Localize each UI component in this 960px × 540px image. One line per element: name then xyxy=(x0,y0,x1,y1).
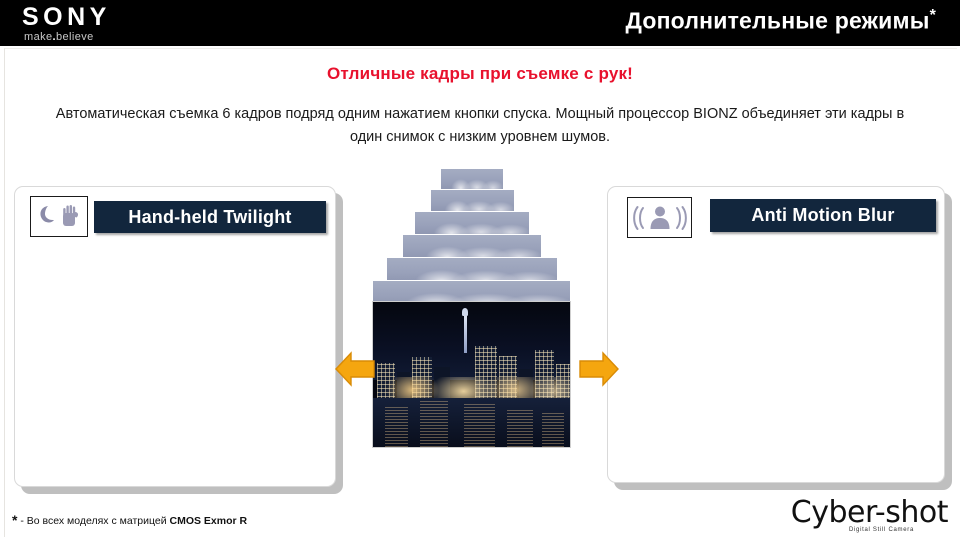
arrow-right-icon xyxy=(578,346,620,392)
cyber-shot-wordmark: Cyber-shot xyxy=(791,498,948,528)
footnote-text: - Во всех моделях с матрицей xyxy=(17,515,169,527)
cyber-shot-sublabel: Digital Still Camera xyxy=(849,527,914,533)
sony-tagline-suffix: believe xyxy=(56,31,94,43)
mode-label-anti-motion-blur: Anti Motion Blur xyxy=(710,199,936,232)
photo-reflection xyxy=(420,401,448,447)
sony-logo: SONY xyxy=(22,5,111,30)
cyber-shot-logo: Cyber-shot Digital Still Camera xyxy=(772,498,948,536)
body-paragraph: Автоматическая съемка 6 кадров подряд од… xyxy=(55,103,905,149)
photo-tower xyxy=(464,315,467,353)
sony-tagline-prefix: make xyxy=(24,31,53,43)
page-title-text: Дополнительные режимы xyxy=(625,8,929,34)
arrow-left-icon xyxy=(334,346,376,392)
moon-hand-icon xyxy=(30,196,88,237)
photo-reflection xyxy=(507,408,533,447)
night-cityscape-image xyxy=(372,301,571,448)
footnote: * - Во всех моделях с матрицей CMOS Exmo… xyxy=(12,512,247,528)
page-title-footnote-mark: * xyxy=(930,7,936,24)
photo-reflection xyxy=(464,404,496,448)
sony-tagline: make.believe xyxy=(24,31,94,43)
person-motion-icon xyxy=(627,197,692,238)
footnote-bold-text: CMOS Exmor R xyxy=(169,515,247,527)
photo-reflection xyxy=(385,406,409,447)
headline: Отличные кадры при съемке с рук! xyxy=(0,64,960,84)
photo-reflection xyxy=(542,412,564,447)
page-title: Дополнительные режимы* xyxy=(625,7,936,35)
mode-label-hand-held-twilight: Hand-held Twilight xyxy=(94,201,326,233)
burst-frame-stack xyxy=(372,168,572,308)
slide-header: SONY make.believe Дополнительные режимы* xyxy=(0,0,960,46)
